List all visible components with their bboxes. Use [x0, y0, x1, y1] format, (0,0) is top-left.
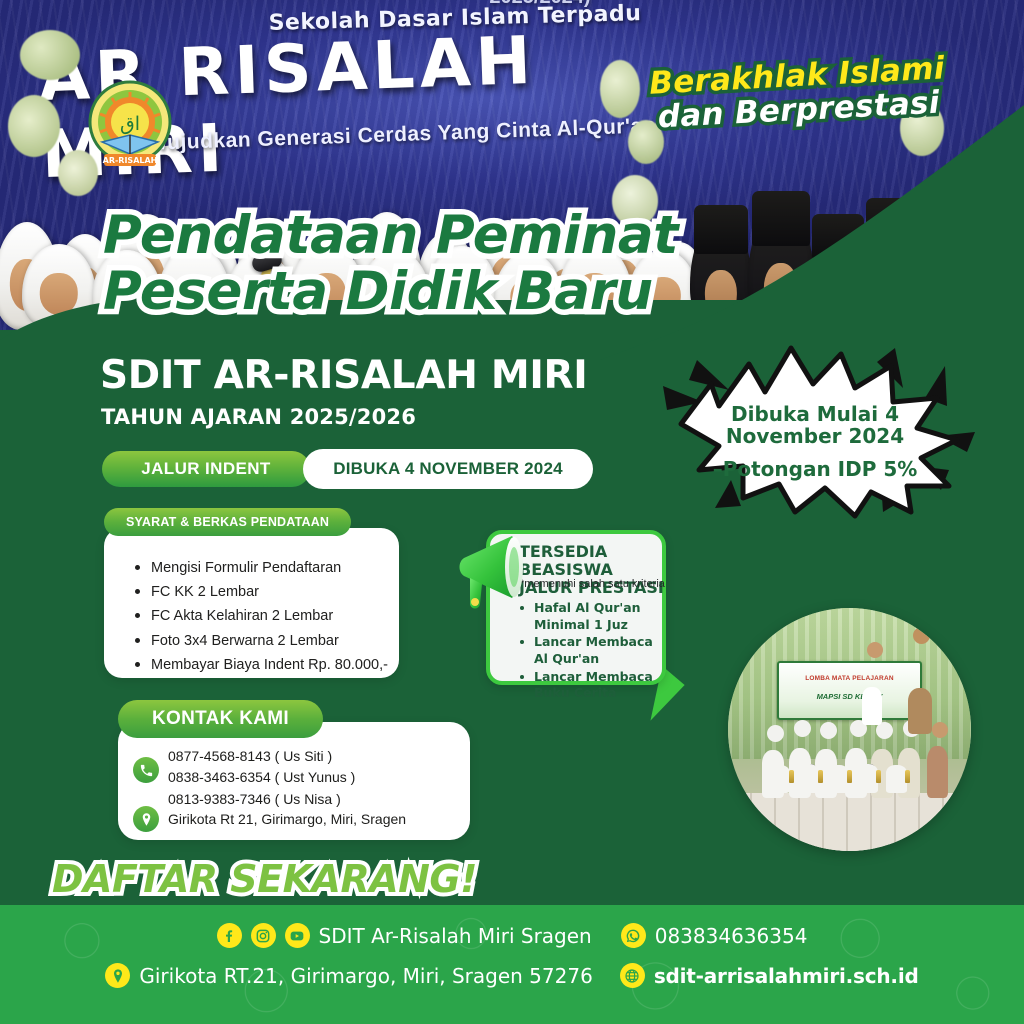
school-name: SDIT AR-RISALAH MIRI — [100, 353, 587, 398]
whatsapp-icon[interactable] — [621, 923, 646, 948]
photo-person — [908, 688, 932, 734]
trophy-icon — [876, 770, 881, 783]
phone-number[interactable]: 0877-4568-8143 ( Us Siti ) — [168, 746, 355, 767]
facebook-icon[interactable] — [217, 923, 242, 948]
kontak-phone-list: 0877-4568-8143 ( Us Siti ) 0838-3463-635… — [168, 746, 355, 810]
page-title: Pendataan Peminat Peserta Didik Baru — [103, 208, 678, 320]
trophy-icon — [818, 770, 823, 783]
photo-event-banner: LOMBA MATA PELAJARAN MAPSI SD KE XXV — [777, 661, 923, 719]
footer-address: Girikota RT.21, Girimargo, Miri, Sragen … — [139, 964, 592, 988]
phone-icon — [133, 757, 159, 783]
footer-social-handle: SDIT Ar-Risalah Miri Sragen — [319, 924, 592, 948]
kontak-address: Girikota Rt 21, Girimargo, Miri, Sragen — [168, 811, 406, 827]
beasiswa-title-line-1: TERSEDIA BEASISWA — [519, 543, 679, 579]
photo-person — [862, 687, 882, 725]
school-logo: اق AR-RISALAH — [88, 80, 172, 172]
photo-person — [867, 642, 883, 658]
syarat-list: Mengisi Formulir Pendaftaran FC KK 2 Lem… — [135, 558, 400, 679]
poster-root: 2025/2024) Sekolah Dasar Islam Terpadu A… — [0, 0, 1024, 1024]
photo-person — [798, 764, 819, 793]
photo-person — [794, 720, 811, 737]
event-banner-line-2: MAPSI SD KE XXV — [779, 692, 921, 701]
jalur-indent-badge[interactable]: JALUR INDENT — [102, 451, 310, 487]
megaphone-icon — [456, 528, 542, 620]
footer-whatsapp-number: 083834636354 — [655, 924, 808, 948]
phone-number[interactable]: 0813-9383-7346 ( Us Nisa ) — [168, 789, 355, 810]
globe-icon[interactable] — [620, 963, 645, 988]
list-item: FC KK 2 Lembar — [135, 582, 400, 603]
location-pin-icon — [105, 963, 130, 988]
list-item: Membayar Biaya Indent Rp. 80.000,- — [135, 655, 400, 676]
location-pin-icon — [133, 806, 159, 832]
list-item: Hafal Al Qur'an Minimal 1 Juz — [520, 600, 670, 633]
photo-person — [927, 746, 948, 798]
photo-person — [886, 765, 907, 793]
starburst-line-2: November 2024 — [700, 425, 930, 447]
photo-person — [913, 627, 930, 644]
list-item: Foto 3x4 Berwarna 2 Lembar — [135, 631, 400, 652]
photo-person — [767, 725, 784, 742]
headline-line-2: Peserta Didik Baru — [103, 264, 678, 320]
trophy-icon — [905, 770, 910, 783]
starburst-text: Dibuka Mulai 4 November 2024 –Potongan I… — [700, 403, 930, 481]
photo-person — [769, 765, 790, 793]
cta-daftar-sekarang[interactable]: DAFTAR SEKARANG! — [52, 857, 477, 901]
dibuka-date-badge[interactable]: DIBUKA 4 NOVEMBER 2024 — [303, 449, 593, 489]
list-item: Lancar Membaca Al Qur'an — [520, 634, 670, 667]
achievement-photo: LOMBA MATA PELAJARAN MAPSI SD KE XXV — [728, 608, 971, 851]
starburst-line-3: –Potongan IDP 5% — [700, 457, 930, 481]
photo-floor — [728, 793, 971, 851]
syarat-tag-label: SYARAT & BERKAS PENDATAAN — [104, 508, 351, 536]
photo-person — [828, 765, 849, 793]
instagram-icon[interactable] — [251, 923, 276, 948]
footer-bar: SDIT Ar-Risalah Miri Sragen 083834636354… — [0, 905, 1024, 1024]
beasiswa-criteria-list: Hafal Al Qur'an Minimal 1 Juz Lancar Mem… — [520, 600, 670, 703]
svg-text:اق: اق — [120, 113, 140, 135]
footer-row-address: Girikota RT.21, Girimargo, Miri, Sragen … — [0, 963, 1024, 988]
photo-person — [857, 764, 878, 793]
headline-line-1: Pendataan Peminat — [103, 208, 678, 264]
youtube-icon[interactable] — [285, 923, 310, 948]
phone-number[interactable]: 0838-3463-6354 ( Ust Yunus ) — [168, 767, 355, 788]
list-item: Lancar Membaca Buku Cerita — [520, 669, 670, 702]
trophy-icon — [847, 770, 852, 783]
kontak-tag-label: KONTAK KAMI — [118, 700, 323, 738]
footer-row-social: SDIT Ar-Risalah Miri Sragen 083834636354 — [0, 923, 1024, 948]
trophy-icon — [789, 770, 794, 783]
footer-website[interactable]: sdit-arrisalahmiri.sch.id — [654, 964, 919, 988]
starburst-line-1: Dibuka Mulai 4 — [700, 403, 930, 425]
logo-label: AR-RISALAH — [103, 156, 158, 165]
list-item: FC Akta Kelahiran 2 Lembar — [135, 606, 400, 627]
school-academic-year: TAHUN AJARAN 2025/2026 — [101, 405, 416, 429]
event-banner-line-1: LOMBA MATA PELAJARAN — [779, 675, 921, 682]
list-item: Mengisi Formulir Pendaftaran — [135, 558, 400, 579]
